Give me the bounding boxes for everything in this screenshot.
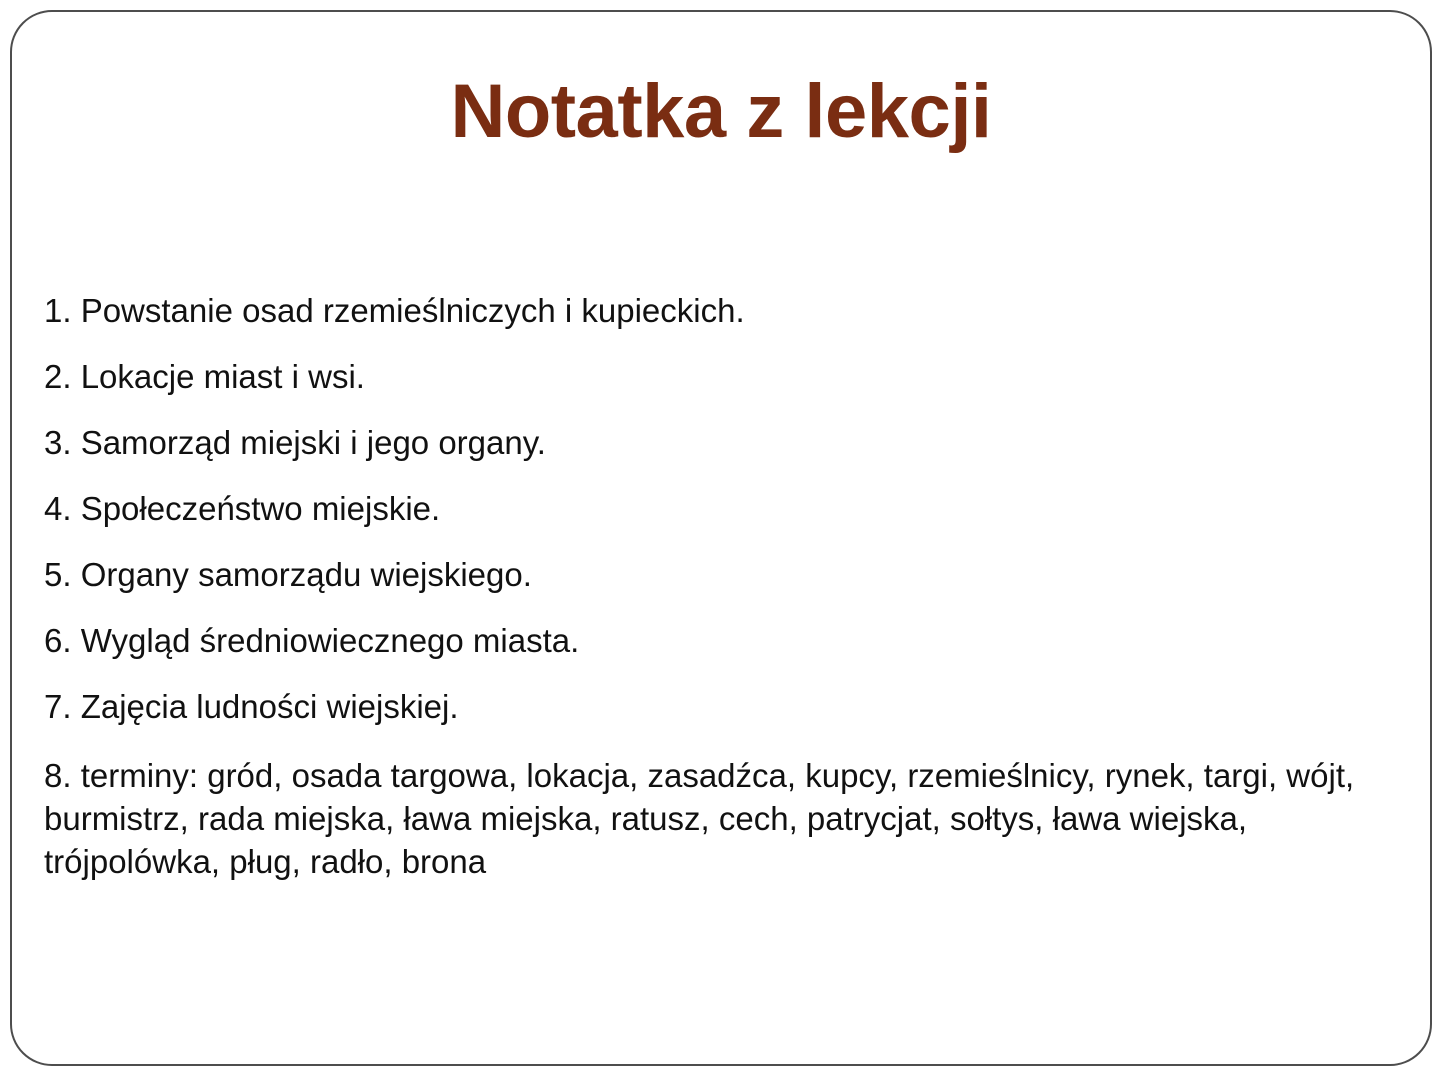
list-item: 6. Wygląd średniowiecznego miasta. [44, 620, 1400, 686]
list-item: 3. Samorząd miejski i jego organy. [44, 422, 1400, 488]
list-item: 4. Społeczeństwo miejskie. [44, 488, 1400, 554]
page-title: Notatka z lekcji [12, 74, 1430, 150]
notes-list: 1. Powstanie osad rzemieślniczych i kupi… [44, 290, 1400, 883]
list-item: 7. Zajęcia ludności wiejskiej. [44, 686, 1400, 752]
list-item: 2. Lokacje miast i wsi. [44, 356, 1400, 422]
slide-frame: Notatka z lekcji 1. Powstanie osad rzemi… [10, 10, 1432, 1066]
list-item: 1. Powstanie osad rzemieślniczych i kupi… [44, 290, 1400, 356]
list-item: 5. Organy samorządu wiejskiego. [44, 554, 1400, 620]
list-item: 8. terminy: gród, osada targowa, lokacja… [44, 754, 1404, 883]
